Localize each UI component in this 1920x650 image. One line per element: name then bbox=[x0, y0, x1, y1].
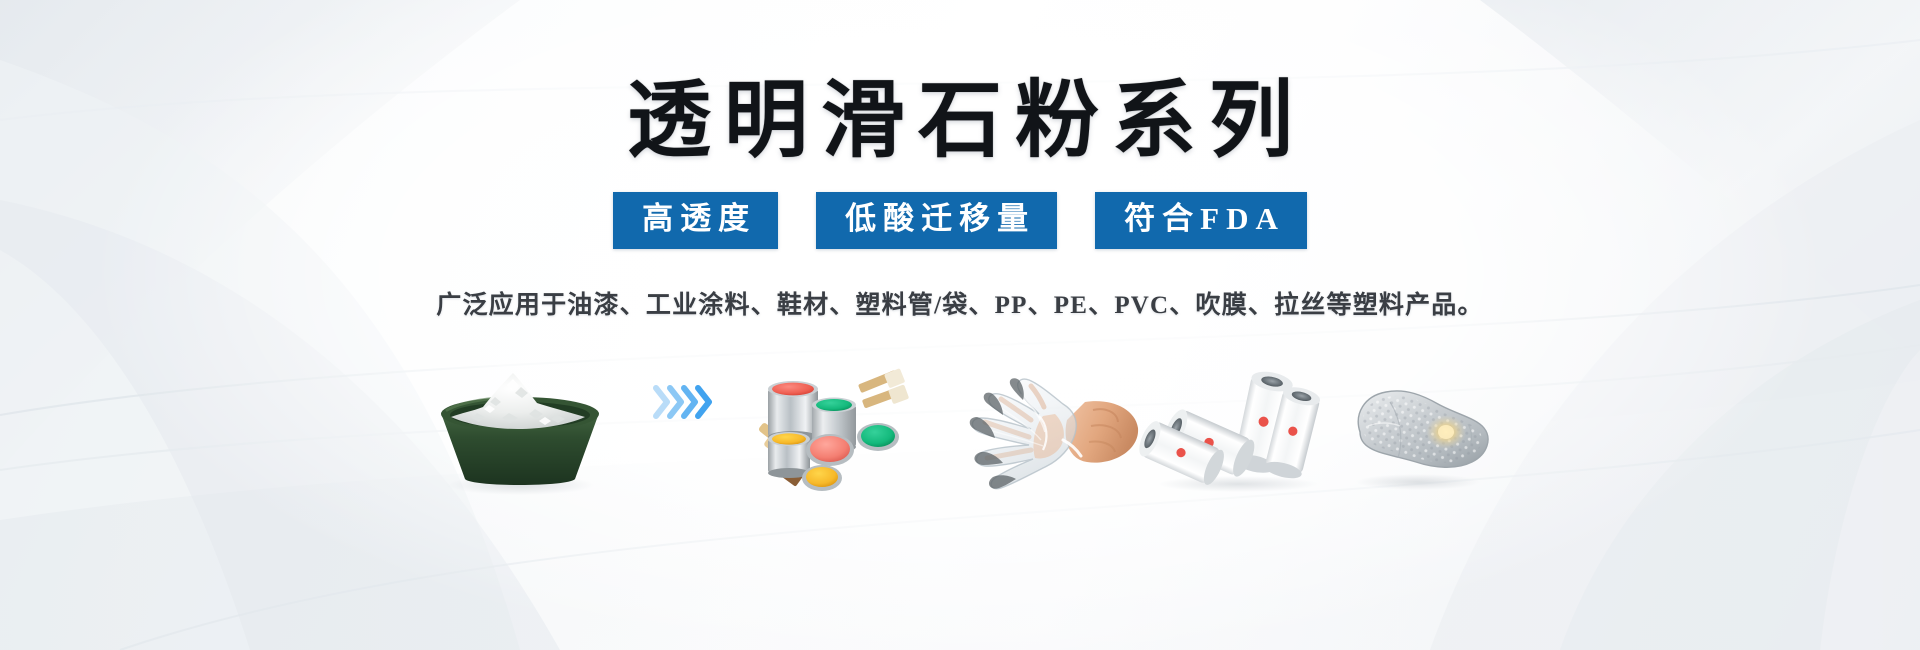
badge-high-transparency[interactable]: 高透度 bbox=[613, 192, 778, 249]
application-description: 广泛应用于油漆、工业涂料、鞋材、塑料管/袋、PP、PE、PVC、吹膜、拉丝等塑料… bbox=[436, 285, 1483, 321]
page-title: 透明滑石粉系列 bbox=[614, 78, 1306, 166]
badge-fda-compliant[interactable]: 符合FDA bbox=[1095, 192, 1307, 249]
feature-badge-group: 高透度 低酸迁移量 符合FDA bbox=[613, 192, 1307, 249]
badge-low-acid-migration[interactable]: 低酸迁移量 bbox=[816, 192, 1057, 249]
banner-content: 透明滑石粉系列 高透度 低酸迁移量 符合FDA 广泛应用于油漆、工业涂料、鞋材、… bbox=[0, 0, 1920, 650]
product-banner: 透明滑石粉系列 高透度 低酸迁移量 符合FDA 广泛应用于油漆、工业涂料、鞋材、… bbox=[0, 0, 1920, 650]
